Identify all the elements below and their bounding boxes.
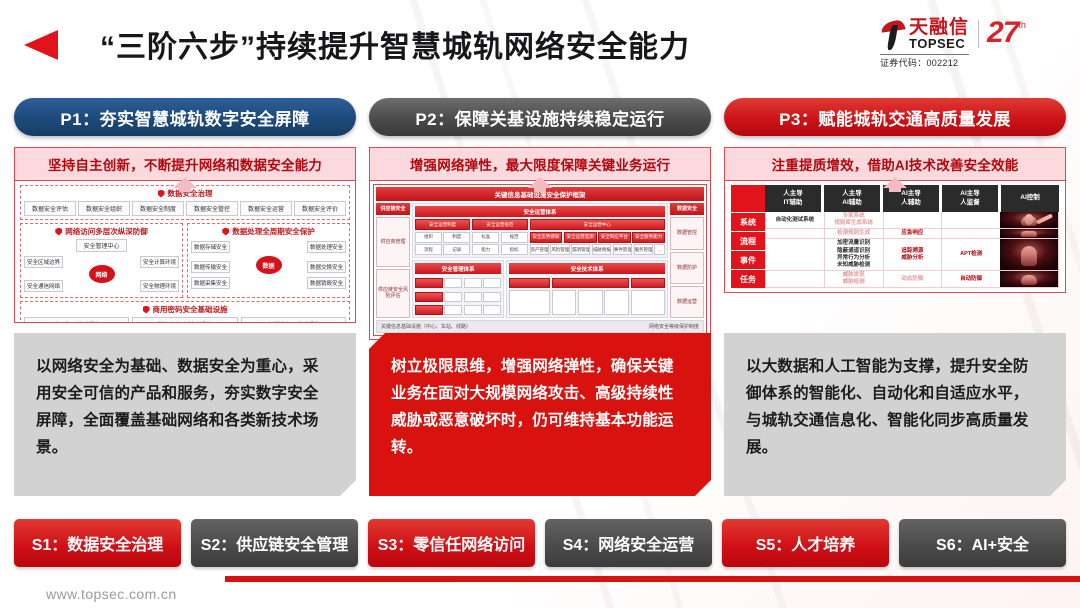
p1-crypto-box: 商用密码安全基础设施 认证鉴别基础设施 数据加解密基础设施 支撑性密码基础设施 xyxy=(20,301,350,323)
p2-mgmt-chip xyxy=(415,278,443,288)
p1-gov-item: 数据安全运营 xyxy=(240,201,292,216)
p3-row-label: 任务 xyxy=(731,269,765,288)
description-p2: 树立极限思维，增强网络弹性，确保关键业务在面对大规模网络攻击、高级持续性威胁或恶… xyxy=(369,333,711,496)
p2-group-chip: 能力 xyxy=(472,244,499,255)
p1-net-sat: 安全通信网络 xyxy=(24,280,63,292)
table-row: 检测规则生成 应急响应 xyxy=(766,228,1058,238)
p1-crypto-title-text: 商用密码安全基础设施 xyxy=(153,304,228,315)
p2-group-title: 安全运营制度 xyxy=(415,219,470,230)
p1-network-title-text: 网络访问多层次纵深防御 xyxy=(65,226,148,237)
ai-robot-photo xyxy=(1000,212,1058,228)
p2-right-item: 数据管控 xyxy=(670,217,704,249)
p2-ops-group: 安全运营规范 标准 规范 能力 指标 xyxy=(472,219,527,255)
p2-tech-chip xyxy=(631,278,665,288)
p2-group-chip: 规范 xyxy=(501,232,528,243)
page-title: “三阶六步”持续提升智慧城轨网络安全能力 xyxy=(100,22,820,66)
p2-mgmt-chip xyxy=(464,292,482,302)
p2-soc-chip: 安全服务能力 xyxy=(632,232,665,243)
p2-footer-left: 关键信息基础设施（中心、车站、线路） xyxy=(381,323,471,330)
p2-tech-chip xyxy=(509,290,550,316)
phase-panel-p1: 坚持自主创新，不断提升网络和数据安全能力 数据安全治理 数据安全评估 数据安全组… xyxy=(14,147,356,323)
footer-red-bar xyxy=(0,576,1080,582)
p1-gov-item: 数据安全制度 xyxy=(132,201,184,216)
p1-data-sat: 数据销毁安全 xyxy=(307,277,346,289)
p2-tech-chip xyxy=(604,290,629,316)
p1-data-sat: 数据传输安全 xyxy=(191,261,230,273)
p3-cell: 应急响应 xyxy=(883,229,942,238)
p1-crypto-item: 认证鉴别基础设施 xyxy=(24,317,129,323)
p2-group-chip: 流程 xyxy=(415,244,442,255)
p2-tech-chip xyxy=(578,290,603,316)
p3-table: 人主导 IT辅助 人主导 AI辅助 AI主导 人辅助 xyxy=(765,185,1059,288)
table-row: 自动化测试系统 专家系统规则库生成系统 xyxy=(766,212,1058,228)
p3-header-row: 人主导 IT辅助 人主导 AI辅助 AI主导 人辅助 xyxy=(765,185,1059,212)
p3-row-label: 系统 xyxy=(731,212,765,231)
p1-data-title: 数据处理全周期安全保护 xyxy=(191,226,346,237)
footer-url: www.topsec.com.cn xyxy=(46,586,177,602)
p2-mgmt-chip xyxy=(415,292,443,302)
p1-network-title: 网络访问多层次纵深防御 xyxy=(24,226,179,237)
p1-data-sat: 数据存储安全 xyxy=(191,241,230,253)
p3-row-labels: 系统 流程 事件 任务 xyxy=(731,185,765,288)
p2-tech-chip xyxy=(509,278,550,288)
p2-tech-title: 安全技术体系 xyxy=(509,263,665,274)
p3-cell: APT检测 xyxy=(941,239,1000,270)
p3-cell: 专家系统规则库生成系统 xyxy=(824,212,883,228)
p1-network-orbit: 网络 安全区域边界 安全计算环境 安全通信网络 安全物理环境 xyxy=(24,254,179,294)
p3-col-header: AI主导 人监督 xyxy=(942,185,998,212)
p1-data-hub: 数据 xyxy=(256,256,282,274)
p2-footer-right: 网络安全等级保护制度 xyxy=(649,323,699,330)
shield-icon xyxy=(55,228,62,236)
slide-root: “三阶六步”持续提升智慧城轨网络安全能力 天融信 TOPSEC 证券代码：002… xyxy=(0,0,1080,608)
description-p1: 以网络安全为基础、数据安全为重心，采用安全可信的产品和服务，夯实数字安全屏障，全… xyxy=(14,333,356,496)
p3-row-label: 流程 xyxy=(731,231,765,250)
table-row: 威胁发现威胁检测 动态防御 自动防御 xyxy=(766,270,1058,287)
p3-cell xyxy=(883,212,942,228)
p2-right-header: 数据安全 xyxy=(670,203,704,215)
p3-row-label: 事件 xyxy=(731,250,765,269)
p2-mgmt-chip xyxy=(483,292,501,302)
p1-network-defense-box: 网络访问多层次纵深防御 安全管理中心 网络 安全区域边界 安全计算环境 安全通信… xyxy=(20,223,183,298)
ai-robot-photo-cont xyxy=(1000,239,1058,270)
p1-crypto-item: 支撑性密码基础设施 xyxy=(241,317,346,323)
p2-mgmt-chip xyxy=(464,278,482,288)
p1-diagram: 数据安全治理 数据安全评估 数据安全组织 数据安全制度 数据安全管控 数据安全运… xyxy=(15,181,355,322)
p2-mgmt-chip xyxy=(464,305,482,315)
step-tag-s5[interactable]: S5：人才培养 xyxy=(722,519,889,567)
p2-left-item: 供应商管理 xyxy=(376,217,410,266)
p2-group-chip: 标准 xyxy=(472,232,499,243)
arrow-stem-p3 xyxy=(889,186,901,192)
p3-col-header-l1: AI主导 xyxy=(960,190,980,198)
p3-body: 自动化测试系统 专家系统规则库生成系统 检测规则生成 xyxy=(765,212,1059,288)
p1-gov-item: 数据安全评价 xyxy=(294,201,346,216)
p2-group-title: 安全运营规范 xyxy=(472,219,527,230)
p2-diagram: 关键信息基础设施安全保护框架 供应链安全 供应商管理 供应链安全风险评估 安全运… xyxy=(370,181,710,339)
phase-column-p2: P2：保障关基设施持续稳定运行 增强网络弹性，最大限度保障关键业务运行 关键信息… xyxy=(369,98,711,340)
phase-column-p1: P1：夯实智慧城轨数字安全屏障 坚持自主创新，不断提升网络和数据安全能力 数据安… xyxy=(14,98,356,323)
arrow-stem-p1 xyxy=(179,186,191,192)
p3-corner-cell xyxy=(731,185,765,212)
p3-cell: 加密流量识别隐蔽通道识别异常行为分析未知威胁检测 xyxy=(824,239,883,270)
p3-col-header-l1: 人主导 xyxy=(842,190,862,198)
p3-cell: 动态防御 xyxy=(883,271,942,287)
p1-gov-item: 数据安全组织 xyxy=(78,201,130,216)
p2-sub-chip: 事件管理 xyxy=(613,244,632,255)
p2-sub-chip: 服务管理 xyxy=(634,244,653,255)
p2-tech-system-box: 安全技术体系 xyxy=(506,260,668,318)
shield-icon xyxy=(222,228,229,236)
p3-cell xyxy=(941,212,1000,228)
p3-col-header-l1: 人主导 xyxy=(783,190,803,198)
p1-governance-items: 数据安全评估 数据安全组织 数据安全制度 数据安全管控 数据安全运营 数据安全评… xyxy=(24,201,346,216)
p3-col-header: 人主导 AI辅助 xyxy=(824,185,880,212)
p2-mgmt-system-box: 安全管理体系 xyxy=(412,260,504,318)
p3-cell: 检测规则生成 xyxy=(824,229,883,238)
arrow-stem-p2 xyxy=(534,186,546,192)
p2-mgmt-chip xyxy=(444,278,462,288)
p3-col-header-l2: 人辅助 xyxy=(901,199,921,207)
p3-cell xyxy=(766,239,824,270)
p2-center-stack: 安全运营体系 安全运营制度 组织 制度 xyxy=(412,203,668,318)
p3-col-header: AI控制 xyxy=(1001,185,1059,212)
p2-ops-group: 安全运营制度 组织 制度 流程 记录 xyxy=(415,219,470,255)
p2-soc-group: 安全运营中心 安全态势感知 安全运营监测 安全响应平台 安全服务能力 xyxy=(530,219,666,255)
p1-data-protection-box: 数据处理全周期安全保护 数据 数据存储安全 数据处理安全 数据传输安全 数据交换… xyxy=(187,223,350,298)
p2-sub-chip: 资产管理 xyxy=(530,244,549,255)
description-p3: 以大数据和人工智能为支撑，提升安全防御体系的智能化、自动化和自适应水平，与城轨交… xyxy=(724,333,1066,496)
p2-sub-chip: 威胁情报 xyxy=(592,244,611,255)
p3-cell: 自动化测试系统 xyxy=(766,212,824,228)
p2-tech-chip xyxy=(552,278,629,288)
step-tag-s4[interactable]: S4：网络安全运营 xyxy=(545,519,712,567)
p2-sub-chip: … xyxy=(654,244,665,255)
p3-col-header-l2: IT辅助 xyxy=(784,199,803,207)
p2-group-chip: 记录 xyxy=(443,244,470,255)
ai-robot-photo-cont xyxy=(1000,271,1058,287)
p3-cell xyxy=(766,229,824,238)
p3-col-header-l1: AI主导 xyxy=(901,190,921,198)
logo-divider xyxy=(978,20,979,48)
p3-cell xyxy=(766,271,824,287)
p1-data-sat: 数据采集安全 xyxy=(191,277,230,289)
p2-left-header: 供应链安全 xyxy=(376,203,410,215)
p1-net-sat: 安全计算环境 xyxy=(140,256,179,268)
topsec-mark-icon xyxy=(880,18,906,52)
p2-left-item: 供应链安全风险评估 xyxy=(376,269,410,318)
anniversary-suffix: th xyxy=(1018,20,1026,30)
p3-col-header-l2: AI辅助 xyxy=(842,199,862,207)
p3-col-header-l2: 人监督 xyxy=(960,199,980,207)
p1-network-hub: 网络 xyxy=(89,265,115,283)
p1-gov-item: 数据安全管控 xyxy=(186,201,238,216)
slide-header: “三阶六步”持续提升智慧城轨网络安全能力 天融信 TOPSEC 证券代码：002… xyxy=(0,0,1080,88)
p1-data-sat: 数据交换安全 xyxy=(307,261,346,273)
p1-data-sat: 数据处理安全 xyxy=(307,241,346,253)
p1-gov-item: 数据安全评估 xyxy=(24,201,76,216)
phase-pill-p1[interactable]: P1：夯实智慧城轨数字安全屏障 xyxy=(14,98,356,136)
phase-column-p3: P3：赋能城轨交通高质量发展 注重提质增效，借助AI技术改善安全效能 系统 流程… xyxy=(724,98,1066,293)
p1-crypto-items: 认证鉴别基础设施 数据加解密基础设施 支撑性密码基础设施 xyxy=(24,317,346,323)
brand-logo: 天融信 TOPSEC 证券代码：002212 27 th xyxy=(880,18,1066,70)
p2-mgmt-chip xyxy=(444,292,462,302)
p2-mgmt-chip xyxy=(444,305,462,315)
ai-robot-photo-cont xyxy=(1000,229,1058,238)
table-row: 加密流量识别隐蔽通道识别异常行为分析未知威胁检测 追踪溯源威胁分析 APT检测 xyxy=(766,238,1058,270)
anniversary-badge: 27 th xyxy=(987,18,1026,48)
phase-panel-p3: 注重提质增效，借助AI技术改善安全效能 系统 流程 事件 任务 人主导 xyxy=(724,147,1066,293)
shield-icon xyxy=(158,190,165,198)
p2-right-item: 数据运营 xyxy=(670,286,704,318)
p2-group-chip: 组织 xyxy=(415,232,442,243)
anniversary-number: 27 xyxy=(987,18,1018,48)
step-tag-row: S1：数据安全治理 S2：供应链安全管理 S3：零信任网络访问 S4：网络安全运… xyxy=(14,519,1066,567)
p2-group-chip: 制度 xyxy=(443,232,470,243)
p2-sub-chip: 漏洞管理 xyxy=(571,244,590,255)
logo-english-name: TOPSEC xyxy=(909,38,969,50)
p3-cell: 威胁发现威胁检测 xyxy=(824,271,883,287)
p2-footer-row: 关键信息基础设施（中心、车站、线路） 网络安全等级保护制度 xyxy=(376,320,704,333)
p1-crypto-item: 数据加解密基础设施 xyxy=(132,317,237,323)
p2-mgmt-chip xyxy=(483,278,501,288)
p1-net-sat: 安全区域边界 xyxy=(24,256,63,268)
stock-code-label: 证券代码：002212 xyxy=(880,54,969,69)
p1-data-orbit: 数据 数据存储安全 数据处理安全 数据传输安全 数据交换安全 数据采集安全 数据… xyxy=(191,239,346,291)
p2-data-security-column: 数据安全 数据管控 数据防护 数据运营 xyxy=(670,203,704,318)
p3-diagram: 系统 流程 事件 任务 人主导 IT辅助 人主导 xyxy=(725,181,1065,292)
p2-tech-chip xyxy=(552,290,577,316)
p1-security-mgmt-center: 安全管理中心 xyxy=(76,239,126,252)
p3-col-header: 人主导 IT辅助 xyxy=(765,185,821,212)
p2-ops-band: 安全运营体系 安全运营制度 组织 制度 xyxy=(412,203,668,258)
phase-pill-p2[interactable]: P2：保障关基设施持续稳定运行 xyxy=(369,98,711,136)
p2-ops-title: 安全运营体系 xyxy=(415,206,665,217)
p3-col-header-l1: AI控制 xyxy=(1020,194,1040,202)
p2-mgmt-title: 安全管理体系 xyxy=(415,263,501,274)
step-tag-s6[interactable]: S6：AI+安全 xyxy=(899,519,1066,567)
triangle-bullet-icon xyxy=(24,30,58,60)
p2-right-item: 数据防护 xyxy=(670,252,704,284)
p2-mgmt-chip xyxy=(483,305,501,315)
p1-data-title-text: 数据处理全周期安全保护 xyxy=(232,226,315,237)
step-tag-s2[interactable]: S2：供应链安全管理 xyxy=(191,519,358,567)
logo-chinese-name: 天融信 xyxy=(909,18,969,38)
p2-tech-chip xyxy=(631,290,665,316)
p2-sub-chip: 风险管理 xyxy=(550,244,569,255)
p2-group-title: 安全运营中心 xyxy=(530,219,666,230)
p3-cell: 追踪溯源威胁分析 xyxy=(883,239,942,270)
shield-icon xyxy=(143,306,150,314)
p2-supply-chain-column: 供应链安全 供应商管理 供应链安全风险评估 xyxy=(376,203,410,318)
p2-soc-chip: 安全态势感知 xyxy=(530,232,563,243)
p2-soc-chip: 安全响应平台 xyxy=(598,232,631,243)
p3-cell: 自动防御 xyxy=(941,271,1000,287)
p2-mgmt-chip xyxy=(415,305,443,315)
phase-panel-p2: 增强网络弹性，最大限度保障关键业务运行 关键信息基础设施安全保护框架 供应链安全… xyxy=(369,147,711,340)
p1-net-sat: 安全物理环境 xyxy=(140,280,179,292)
step-tag-s1[interactable]: S1：数据安全治理 xyxy=(14,519,181,567)
step-tag-s3[interactable]: S3：零信任网络访问 xyxy=(368,519,535,567)
phase-pill-p3[interactable]: P3：赋能城轨交通高质量发展 xyxy=(724,98,1066,136)
p2-group-chip: 指标 xyxy=(501,244,528,255)
p1-crypto-title: 商用密码安全基础设施 xyxy=(24,304,346,315)
p2-soc-chip: 安全运营监测 xyxy=(564,232,597,243)
p3-cell xyxy=(941,229,1000,238)
